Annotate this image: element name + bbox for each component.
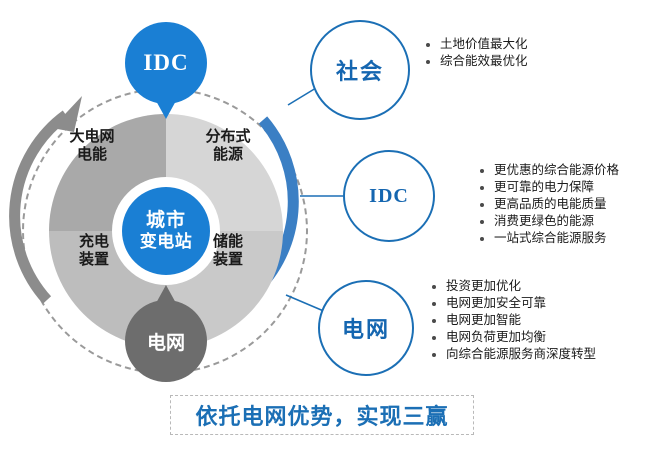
branch-circle-society[interactable]: 社会 — [310, 20, 410, 120]
branch-title-idc: IDC — [369, 185, 409, 208]
list-item: 向综合能源服务商深度转型 — [430, 346, 596, 363]
center-node: 城市 变电站 — [122, 187, 210, 275]
center-node-line1: 城市 — [146, 210, 186, 232]
summary-banner: 依托电网优势，实现三赢 — [170, 395, 474, 435]
hub-diagram: 城市 变电站 大电网 电能 分布式 能源 充电 装置 储能 装置 IDC 电网 — [0, 0, 330, 420]
branch-bullets-grid: 投资更加优化 电网更加安全可靠 电网更加智能 电网负荷更加均衡 向综合能源服务商… — [430, 278, 596, 363]
branch-circle-idc[interactable]: IDC — [343, 150, 435, 242]
list-item: 土地价值最大化 — [424, 36, 528, 53]
list-item: 综合能效最优化 — [424, 53, 528, 70]
pin-idc-label: IDC — [143, 50, 188, 76]
quadrant-label-bottom-left: 充电 装置 — [66, 233, 122, 269]
summary-banner-text: 依托电网优势，实现三赢 — [195, 399, 448, 431]
pin-grid: 电网 — [125, 300, 207, 382]
branch-bullets-idc: 更优惠的综合能源价格 更可靠的电力保障 更高品质的电能质量 消费更绿色的能源 一… — [478, 162, 619, 247]
quadrant-label-top-left: 大电网 电能 — [60, 128, 124, 164]
branch-bullets-society: 土地价值最大化 综合能效最优化 — [424, 36, 528, 70]
list-item: 电网更加智能 — [430, 312, 596, 329]
pin-grid-label: 电网 — [147, 328, 185, 355]
list-item: 投资更加优化 — [430, 278, 596, 295]
quadrant-label-top-right: 分布式 能源 — [196, 128, 260, 164]
list-item: 更优惠的综合能源价格 — [478, 162, 619, 179]
branch-title-society: 社会 — [336, 54, 384, 86]
list-item: 更可靠的电力保障 — [478, 179, 619, 196]
center-node-line2: 变电站 — [140, 232, 193, 252]
quadrant-label-bottom-right: 储能 装置 — [200, 233, 256, 269]
pin-idc: IDC — [125, 22, 207, 104]
branch-circle-grid[interactable]: 电网 — [318, 280, 414, 376]
diagram-canvas: 城市 变电站 大电网 电能 分布式 能源 充电 装置 储能 装置 IDC 电网 … — [0, 0, 663, 461]
list-item: 更高品质的电能质量 — [478, 196, 619, 213]
branch-title-grid: 电网 — [342, 312, 390, 344]
list-item: 电网负荷更加均衡 — [430, 329, 596, 346]
list-item: 一站式综合能源服务 — [478, 230, 619, 247]
list-item: 消费更绿色的能源 — [478, 213, 619, 230]
list-item: 电网更加安全可靠 — [430, 295, 596, 312]
